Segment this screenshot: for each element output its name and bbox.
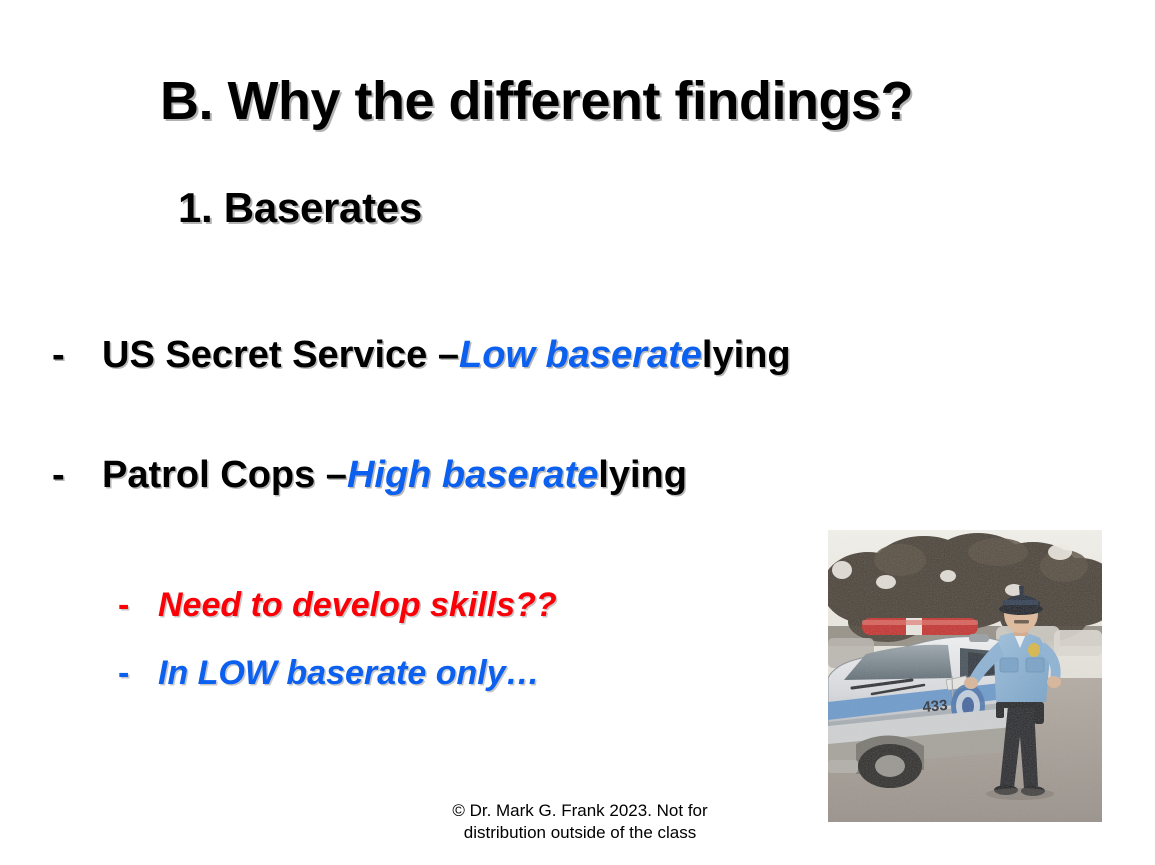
bullet-text-accent: High baserate <box>347 454 598 497</box>
sub-bullet-text: In LOW baserate only… <box>158 654 540 693</box>
bullet-item-secret-service: - US Secret Service – Low baserate lying <box>52 334 791 377</box>
bullet-dash-icon: - <box>52 334 102 377</box>
patrol-car-number: 433 <box>922 697 948 716</box>
bullet-text-accent: Low baserate <box>459 334 702 377</box>
slide-subtitle: 1. Baserates <box>178 184 422 232</box>
copyright-footer: © Dr. Mark G. Frank 2023. Not for distri… <box>340 800 820 845</box>
bullet-text-trail: lying <box>702 334 791 377</box>
sub-bullet-text: Need to develop skills?? <box>158 586 557 625</box>
copyright-line-1: © Dr. Mark G. Frank 2023. Not for <box>340 800 820 822</box>
bullet-text-lead: Patrol Cops – <box>102 454 347 497</box>
copyright-line-2: distribution outside of the class <box>340 822 820 844</box>
bullet-dash-icon: - <box>52 454 102 497</box>
sub-bullet-dash-icon: - <box>118 586 158 625</box>
police-officer-photo: 433 <box>828 530 1102 822</box>
page-title: B. Why the different findings? <box>160 72 1020 130</box>
sub-bullet-item-low-baserate-only: - In LOW baserate only… <box>118 654 540 693</box>
bullet-text-trail: lying <box>598 454 687 497</box>
slide-canvas: B. Why the different findings? 1. Basera… <box>0 0 1155 865</box>
bullet-item-patrol-cops: - Patrol Cops – High baserate lying <box>52 454 687 497</box>
sub-bullet-item-develop-skills: - Need to develop skills?? <box>118 586 557 625</box>
sub-bullet-dash-icon: - <box>118 654 158 693</box>
bullet-text-lead: US Secret Service – <box>102 334 459 377</box>
